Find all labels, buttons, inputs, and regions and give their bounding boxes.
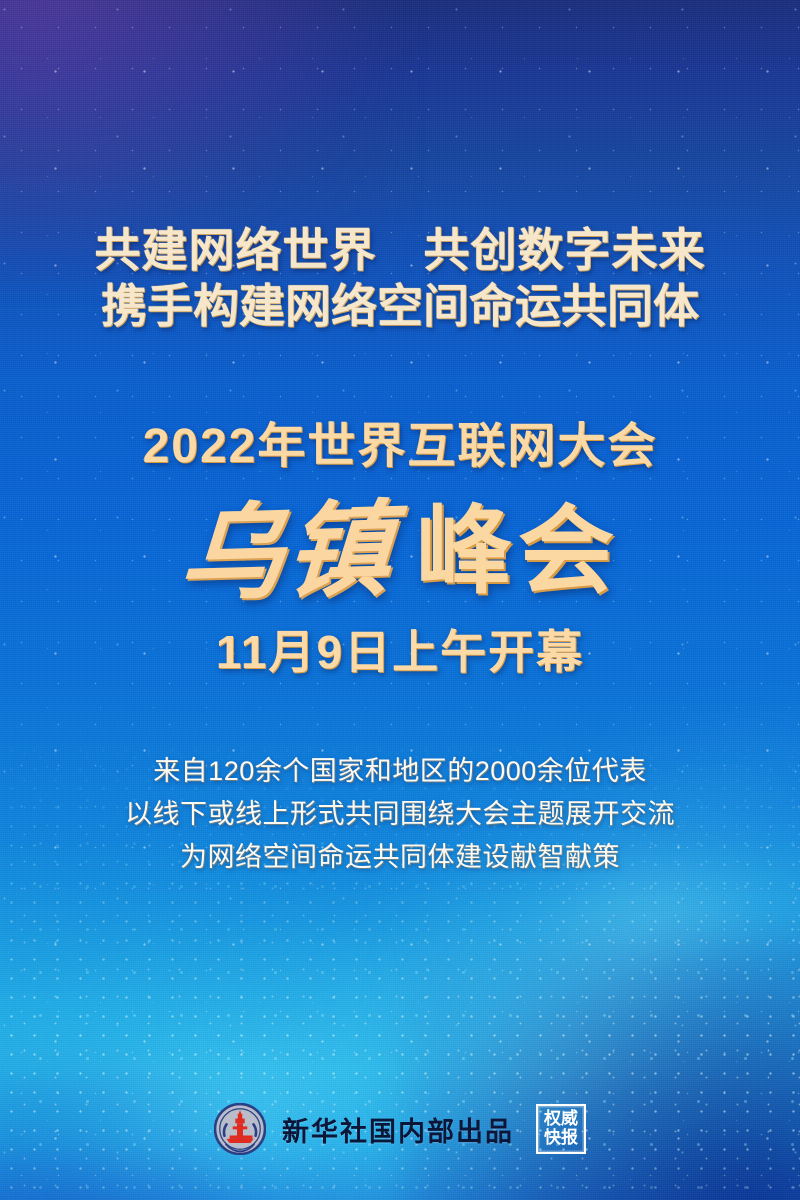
- summit-title-block: 乌镇 峰会: [0, 492, 800, 612]
- poster-content: 共建网络世界 共创数字未来 携手构建网络空间命运共同体 2022年世界互联网大会…: [0, 0, 800, 1200]
- conference-name: 2022年世界互联网大会: [0, 418, 800, 476]
- producer-credit-text: 新华社国内部出品: [282, 1110, 514, 1149]
- headline-line-2: 携手构建网络空间命运共同体: [0, 278, 800, 334]
- body-copy-line: 为网络空间命运共同体建设献智献策: [0, 836, 800, 879]
- body-copy-block: 来自120余个国家和地区的2000余位代表 以线下或线上形式共同围绕大会主题展开…: [0, 750, 800, 879]
- footer-credit-bar: 新华社国内部出品 权威 快报: [0, 1098, 800, 1160]
- stamp-text-bottom: 快报: [544, 1129, 578, 1148]
- xinhua-agency-logo-icon: [214, 1103, 266, 1155]
- headline-line-1: 共建网络世界 共创数字未来: [0, 222, 800, 278]
- stamp-text-top: 权威: [544, 1110, 578, 1129]
- authority-express-stamp: 权威 快报: [536, 1104, 586, 1154]
- poster-canvas: 共建网络世界 共创数字未来 携手构建网络空间命运共同体 2022年世界互联网大会…: [0, 0, 800, 1200]
- summit-title-calligraphy: 乌镇: [177, 497, 396, 607]
- body-copy-line: 来自120余个国家和地区的2000余位代表: [0, 750, 800, 793]
- opening-date-line: 11月9日上午开幕: [0, 616, 800, 682]
- body-copy-line: 以线下或线上形式共同围绕大会主题展开交流: [0, 793, 800, 836]
- headline-block: 共建网络世界 共创数字未来 携手构建网络空间命运共同体: [0, 222, 800, 334]
- summit-title-bold: 峰会: [416, 504, 620, 600]
